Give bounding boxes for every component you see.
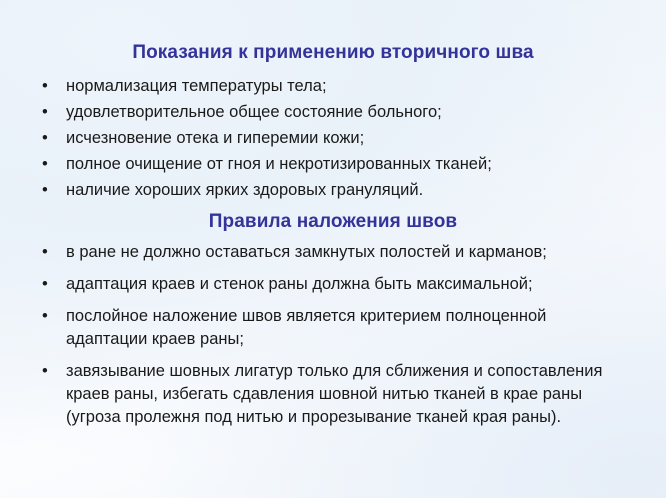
list-item: • полное очищение от гноя и некротизиров… [0, 151, 666, 177]
section-heading-rules: Правила наложения швов [0, 211, 666, 233]
bullet-icon: • [42, 73, 48, 99]
bullet-icon: • [42, 151, 48, 177]
section-indications: Показания к применению вторичного шва • … [0, 42, 666, 203]
section-heading-indications: Показания к применению вторичного шва [0, 42, 666, 64]
list-item-label: полное очищение от гноя и некротизирован… [66, 155, 492, 173]
list-item: • завязывание шовных лигатур только для … [0, 360, 666, 429]
section-rules: Правила наложения швов • в ране не должн… [0, 211, 666, 429]
list-item: • адаптация краев и стенок раны должна б… [0, 273, 666, 296]
presentation-slide: Показания к применению вторичного шва • … [0, 0, 666, 498]
bullet-icon: • [42, 177, 48, 203]
list-item: • наличие хороших ярких здоровых грануля… [0, 177, 666, 203]
bullet-icon: • [42, 99, 48, 125]
bullet-icon: • [42, 125, 48, 151]
bullet-icon: • [42, 273, 48, 296]
bullet-list-indications: • нормализация температуры тела; • удовл… [0, 73, 666, 203]
bullet-icon: • [42, 305, 48, 328]
list-item-label: исчезновение отека и гиперемии кожи; [66, 129, 364, 147]
list-item: • удовлетворительное общее состояние бол… [0, 99, 666, 125]
list-item-label: в ране не должно оставаться замкнутых по… [66, 243, 547, 261]
list-item-label: нормализация температуры тела; [66, 77, 327, 95]
bullet-icon: • [42, 241, 48, 264]
list-item: • послойное наложение швов является крит… [0, 305, 666, 351]
list-item-label: послойное наложение швов является критер… [66, 307, 546, 348]
list-item-label: удовлетворительное общее состояние больн… [66, 103, 442, 121]
bullet-list-rules: • в ране не должно оставаться замкнутых … [0, 241, 666, 429]
bullet-icon: • [42, 360, 48, 383]
list-item-label: адаптация краев и стенок раны должна быт… [66, 275, 533, 293]
list-item-label: наличие хороших ярких здоровых грануляци… [66, 181, 423, 199]
list-item-label: завязывание шовных лигатур только для сб… [66, 362, 602, 426]
list-item: • в ране не должно оставаться замкнутых … [0, 241, 666, 264]
list-item: • исчезновение отека и гиперемии кожи; [0, 125, 666, 151]
list-item: • нормализация температуры тела; [0, 73, 666, 99]
